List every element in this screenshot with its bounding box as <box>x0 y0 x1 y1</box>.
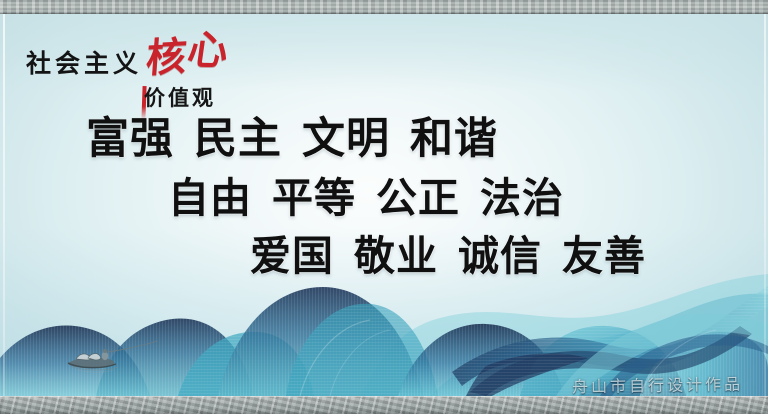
logo-suffix-text: 价值观 <box>144 88 216 109</box>
poster-board: 社会主义 核心 价值观 富强民主文明和谐 自由平等公正法治 爱国敬业诚信友善 舟… <box>0 0 768 414</box>
slogan-word: 诚信 <box>458 236 542 277</box>
slogan-word: 爱国 <box>250 236 334 277</box>
slogan-word: 友善 <box>562 236 646 277</box>
logo-core-char-2: 心 <box>186 33 230 68</box>
right-edge-highlight <box>764 14 766 396</box>
slogan-line-2: 自由平等公正法治 <box>168 178 768 219</box>
fishing-boat-icon <box>52 336 177 378</box>
slogan-word: 敬业 <box>354 236 438 277</box>
slogan-block: 富强民主文明和谐 自由平等公正法治 爱国敬业诚信友善 <box>0 118 768 277</box>
watermark-text: 舟山市自行设计作品 <box>572 371 743 398</box>
core-values-logo: 社会主义 核心 价值观 <box>26 30 266 110</box>
logo-core-text: 核心 <box>145 37 228 76</box>
slogan-word: 富强 <box>86 118 174 161</box>
slogan-line-3: 爱国敬业诚信友善 <box>250 236 768 277</box>
logo-prefix-text: 社会主义 <box>26 51 142 76</box>
logo-core-char-1: 核 <box>145 33 188 82</box>
slogan-word: 法治 <box>480 178 564 219</box>
slogan-word: 平等 <box>272 178 356 219</box>
slogan-word: 文明 <box>302 118 390 161</box>
slogan-line-1: 富强民主文明和谐 <box>86 118 768 161</box>
left-edge-highlight <box>3 14 5 396</box>
bottom-stone-plinth <box>0 396 768 414</box>
slogan-word: 和谐 <box>410 118 498 161</box>
slogan-word: 民主 <box>194 118 282 161</box>
top-metal-band <box>0 0 768 14</box>
slogan-word: 公正 <box>376 178 460 219</box>
slogan-word: 自由 <box>168 178 252 219</box>
